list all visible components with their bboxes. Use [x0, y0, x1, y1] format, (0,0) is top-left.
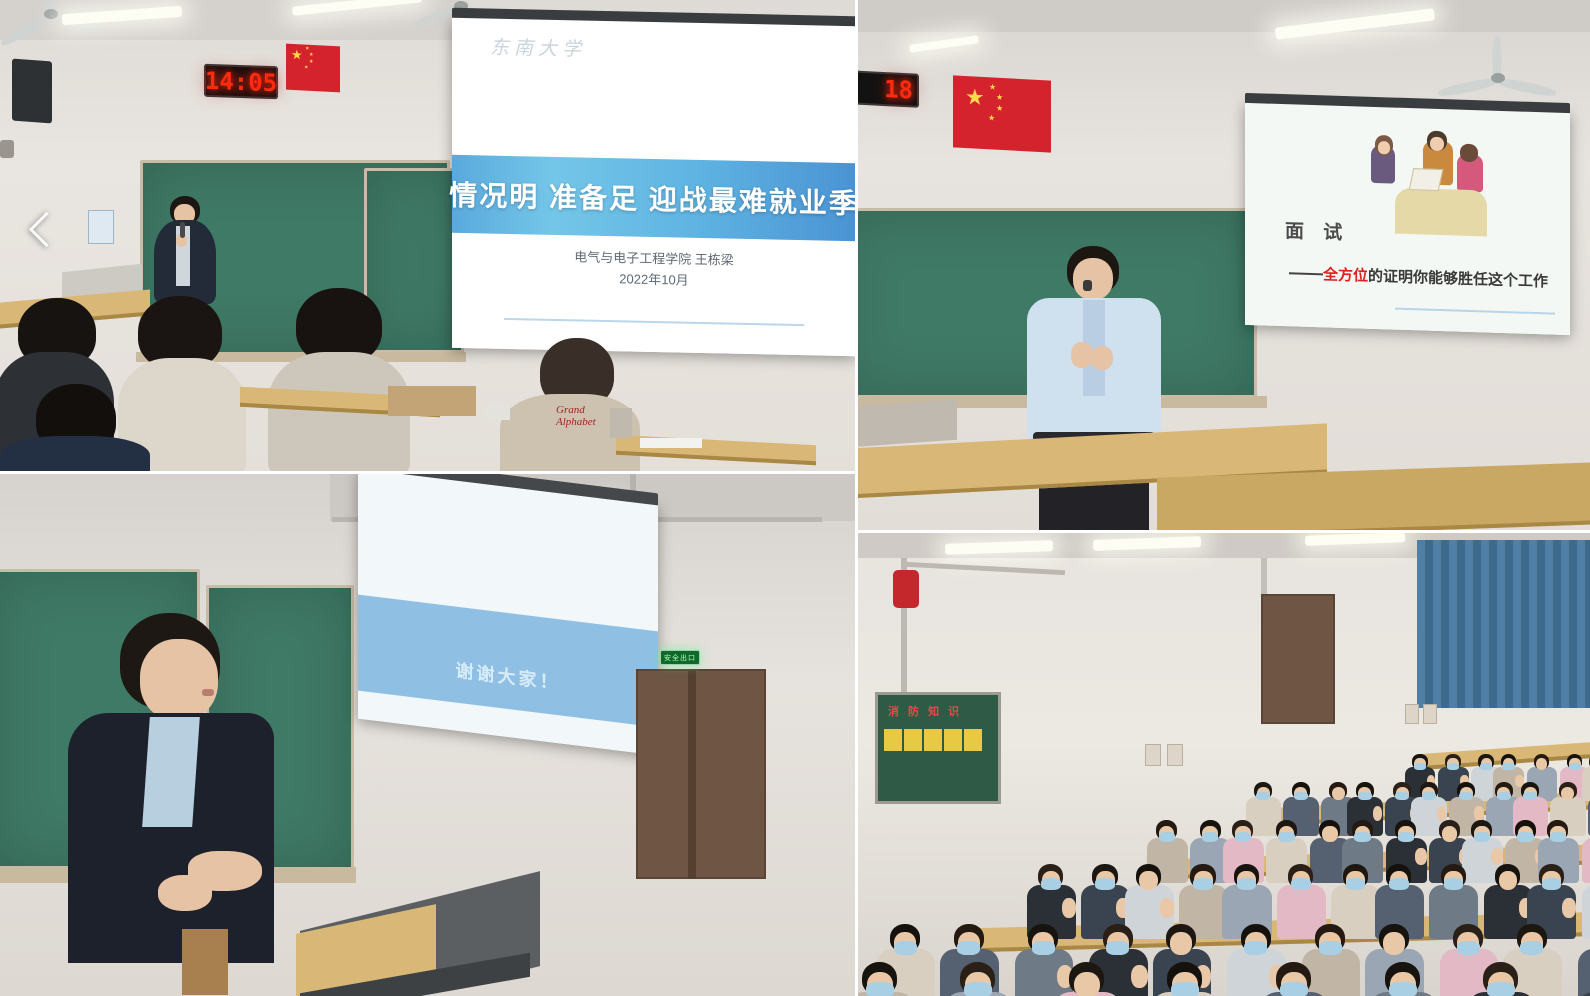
face-mask-icon	[1457, 941, 1480, 955]
face-mask-icon	[1497, 792, 1511, 800]
panel-seam-vertical	[855, 0, 858, 996]
audience-member	[1069, 962, 1154, 996]
face-mask-icon	[1480, 763, 1492, 770]
face-mask-icon	[1550, 832, 1566, 842]
interview-slide: 面 试 全方位的证明你能够胜任这个工作	[1245, 103, 1570, 335]
audience-member-face	[1499, 871, 1518, 890]
flag-star-small: ★	[996, 105, 1003, 113]
clapping-hands	[1474, 806, 1484, 820]
face-mask-icon	[1447, 763, 1459, 770]
face-mask-icon	[1319, 941, 1342, 955]
face-mask-icon	[1256, 792, 1270, 800]
face-mask-icon	[1569, 763, 1581, 770]
face-mask-icon	[1398, 832, 1414, 842]
face-mask-icon	[1517, 832, 1533, 842]
face-mask-icon	[1414, 763, 1426, 770]
clapping-hands	[1160, 898, 1174, 918]
face-mask-icon	[866, 982, 894, 996]
face-mask-icon	[1193, 878, 1213, 890]
clapping-hands	[1062, 898, 1076, 918]
slide-headline-band: 情况明 准备足 迎战最难就业季	[452, 155, 856, 241]
audience-member-face	[1322, 826, 1338, 842]
lecture-hall-audience-scene: 消 防 知 识	[857, 532, 1590, 996]
university-logo: 东南大学	[452, 18, 856, 67]
audience-member-face	[1139, 871, 1158, 890]
panel-seam-left-horizontal	[0, 471, 857, 474]
face-mask-icon	[1202, 832, 1218, 842]
face-mask-icon	[1278, 832, 1294, 842]
face-mask-icon	[1235, 832, 1251, 842]
notebook	[640, 438, 702, 448]
fire-safety-poster: 消 防 知 识	[875, 692, 1001, 804]
wall-speaker	[12, 59, 52, 124]
led-clock: 14:05	[204, 64, 278, 100]
china-flag: ★ ★ ★ ★ ★	[286, 44, 340, 93]
flag-star-small: ★	[309, 53, 313, 58]
door[interactable]	[636, 669, 766, 879]
speaker-person	[62, 613, 292, 996]
face-mask-icon	[1459, 792, 1473, 800]
window-curtain	[1417, 540, 1590, 708]
audience-member	[1483, 962, 1568, 996]
projection-screen: 谢谢大家！	[358, 473, 658, 755]
audience-member	[1385, 962, 1470, 996]
presenter-person	[1015, 246, 1175, 532]
shirt	[142, 717, 200, 827]
face-mask-icon	[1444, 878, 1464, 890]
face-mask-icon	[1542, 878, 1562, 890]
flag-star-small: ★	[989, 83, 996, 91]
interview-illustration	[1365, 133, 1505, 247]
face-mask-icon	[1474, 832, 1490, 842]
ceiling	[857, 0, 1590, 32]
small-box	[484, 404, 510, 420]
audience-member	[960, 962, 1045, 996]
clapping-hands	[1562, 898, 1576, 918]
face-mask-icon	[1346, 878, 1366, 890]
face-mask-icon	[1280, 982, 1308, 996]
door[interactable]	[1261, 594, 1335, 724]
title-slide: 东南大学 情况明 准备足 迎战最难就业季 电气与电子工程学院 王栋梁 2022年…	[452, 18, 856, 356]
wall-notice	[88, 210, 114, 244]
wall-socket	[1423, 704, 1437, 724]
panel-top-right[interactable]: 18 ★ ★ ★ ★ ★	[857, 0, 1590, 532]
face-mask-icon	[1358, 792, 1372, 800]
lectern-edge	[182, 929, 228, 995]
face-mask-icon	[1159, 832, 1175, 842]
led-clock: 18	[857, 70, 919, 108]
face-mask-icon	[1523, 792, 1537, 800]
exit-sign: 安全出口	[660, 650, 700, 665]
panel-bottom-right[interactable]: 消 防 知 识	[857, 532, 1590, 996]
audience-member-face	[1332, 787, 1345, 800]
microphone	[1083, 280, 1092, 291]
clapping-hands	[1415, 848, 1427, 865]
face-mask-icon	[1041, 878, 1061, 890]
wall-socket	[1167, 744, 1183, 766]
audience-member-face	[1074, 972, 1100, 996]
slide-dash	[1289, 272, 1323, 275]
classroom-scene-bottom-left: 谢谢大家！ 安全出口 安全出口	[0, 473, 857, 996]
poster-title: 消 防 知 识	[878, 695, 998, 719]
flag-star-large: ★	[965, 86, 985, 109]
face-mask-icon	[1487, 982, 1515, 996]
photo-collage: 14:05 ★ ★ ★ ★ ★ 东南大学 情况明 准备足 迎战最难就业季	[0, 0, 1590, 996]
slide-subtitle: 全方位的证明你能够胜任这个工作	[1323, 263, 1548, 291]
face-mask-icon	[964, 982, 992, 996]
wall-socket	[1405, 704, 1419, 724]
face-mask-icon	[1032, 941, 1055, 955]
panel-bottom-left[interactable]: 谢谢大家！ 安全出口 安全出口	[0, 473, 857, 996]
paper-bag	[388, 386, 476, 416]
flag-star-small: ★	[996, 94, 1003, 102]
wall-mount	[0, 140, 14, 158]
bottle	[610, 408, 632, 438]
clapping-hands	[1437, 806, 1447, 820]
audience-member-face	[1170, 932, 1192, 954]
face-mask-icon	[1520, 941, 1543, 955]
face-mask-icon	[1354, 832, 1370, 842]
classroom-scene-top-right: 18 ★ ★ ★ ★ ★	[857, 0, 1590, 532]
closing-slide: 谢谢大家！	[358, 473, 658, 755]
face-mask-icon	[1171, 982, 1199, 996]
gallery-prev-arrow[interactable]	[22, 210, 68, 256]
slide-thankyou-text: 谢谢大家！	[456, 657, 561, 696]
face-mask-icon	[1395, 792, 1409, 800]
face-mask-icon	[1244, 941, 1267, 955]
flag-star-small: ★	[988, 114, 995, 122]
face-mask-icon	[1291, 878, 1311, 890]
projection-screen: 东南大学 情况明 准备足 迎战最难就业季 电气与电子工程学院 王栋梁 2022年…	[452, 18, 856, 356]
face-mask-icon	[1422, 792, 1436, 800]
slide-title: 面 试	[1285, 216, 1349, 245]
audience-member-body	[1578, 949, 1590, 996]
slide-headline: 情况明 准备足 迎战最难就业季	[449, 174, 857, 223]
panel-top-left[interactable]: 14:05 ★ ★ ★ ★ ★ 东南大学 情况明 准备足 迎战最难就业季	[0, 0, 857, 473]
slide-band: 谢谢大家！	[358, 595, 658, 728]
face-mask-icon	[1294, 792, 1308, 800]
classroom-scene-top-left: 14:05 ★ ★ ★ ★ ★ 东南大学 情况明 准备足 迎战最难就业季	[0, 0, 857, 473]
jacket-text: Grand Alphabet	[556, 404, 616, 418]
clapping-hands	[1373, 806, 1383, 820]
face-mask-icon	[1106, 941, 1129, 955]
panel-seam-right-horizontal	[857, 530, 1590, 533]
clapping-hands	[1491, 848, 1503, 865]
slide-divider	[1395, 308, 1555, 315]
face-mask-icon	[957, 941, 980, 955]
face-mask-icon	[1502, 763, 1514, 770]
face-mask-icon	[1095, 878, 1115, 890]
slide-subtitle-highlight: 全方位	[1323, 266, 1368, 284]
flag-star-small: ★	[304, 66, 308, 71]
audience-member	[1167, 962, 1252, 996]
audience-member-face	[1383, 932, 1405, 954]
audience-member-face	[1442, 826, 1458, 842]
slide-subtitle: 电气与电子工程学院 王栋梁 2022年10月	[452, 233, 856, 295]
fire-extinguisher-icon	[893, 570, 919, 608]
face-mask-icon	[1389, 982, 1417, 996]
speaker-person	[150, 196, 222, 306]
audience-member	[1276, 962, 1361, 996]
flag-star-small: ★	[309, 60, 313, 65]
face-mask-icon	[894, 941, 917, 955]
audience-member	[862, 962, 947, 996]
flag-star-large: ★	[291, 48, 303, 62]
projection-screen: 面 试 全方位的证明你能够胜任这个工作	[1245, 103, 1570, 335]
face-mask-icon	[1237, 878, 1257, 890]
wall-socket	[1145, 744, 1161, 766]
slide-divider	[504, 317, 804, 325]
face-mask-icon	[1389, 878, 1409, 890]
slide-subtitle-rest: 的证明你能够胜任这个工作	[1368, 268, 1548, 291]
china-flag: ★ ★ ★ ★ ★	[953, 75, 1051, 152]
